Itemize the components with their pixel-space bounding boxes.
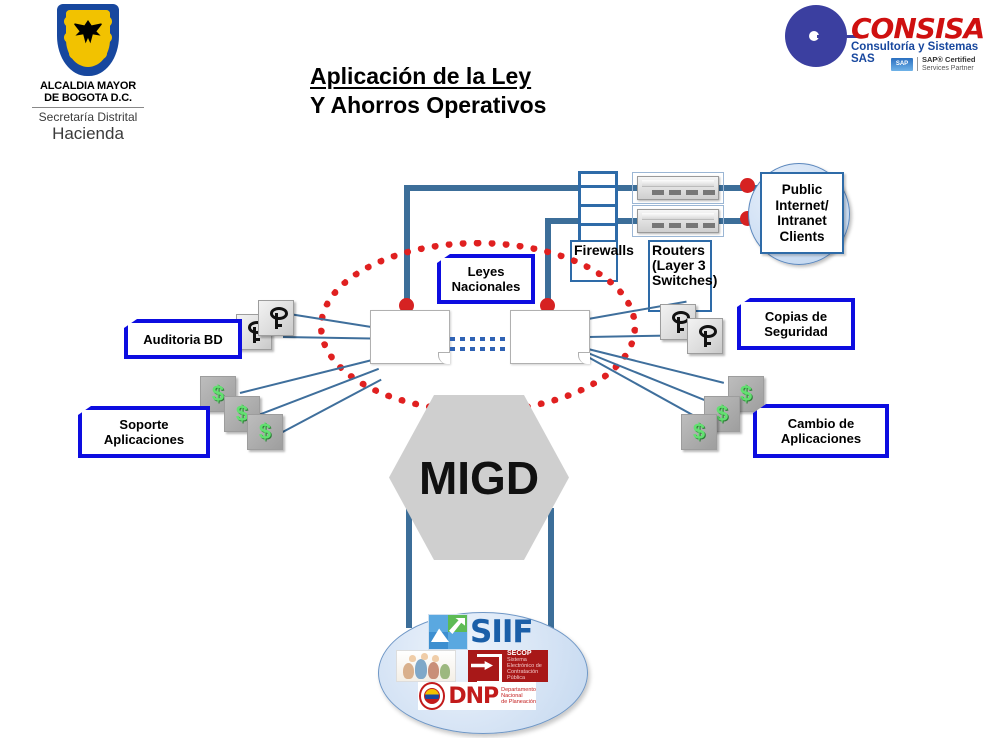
server-link-lower (450, 347, 508, 351)
callout-soporte-aplicaciones-text: Soporte Aplicaciones (104, 417, 184, 447)
spoke-right-4 (588, 352, 719, 406)
secop-subtitle: Sistema Electrónico de Contratación Públ… (507, 657, 542, 681)
migd-label: MIGD (419, 451, 539, 505)
bogota-shield-icon (57, 4, 119, 76)
link-hex-to-oval-right (548, 508, 554, 628)
page-title: Aplicación de la Ley Y Ahorros Operativo… (310, 62, 730, 120)
callout-copias-de-seguridad-text: Copias de Seguridad (764, 309, 828, 339)
title-line-1: Aplicación de la Ley (310, 62, 730, 90)
secop-wordmark: SECOP (507, 650, 532, 657)
title-line-2: Y Ahorros Operativos (310, 90, 730, 120)
siif-wordmark: SIIF (470, 614, 533, 650)
server-link-upper (450, 337, 508, 341)
cost-cube-left-3: $ (247, 414, 283, 450)
slide-canvas: ALCALDIA MAYOR DE BOGOTA D.C. Secretaría… (0, 0, 987, 738)
sap-certified-badge: SAP SAP® Certified Services Partner (891, 56, 975, 72)
link-hex-to-oval-left (406, 508, 412, 628)
callout-leyes-nacionales[interactable]: Leyes Nacionales (437, 254, 535, 304)
internet-clients-label: Public Internet/ Intranet Clients (760, 172, 844, 254)
siif-logo: SIIF (428, 614, 533, 650)
bogota-divider (32, 107, 144, 108)
callout-copias-de-seguridad[interactable]: Copias de Seguridad (737, 298, 855, 350)
sap-certified-line1: SAP® Certified (922, 55, 975, 64)
callout-leyes-nacionales-text: Leyes Nacionales (452, 264, 521, 294)
consisa-logo: CONSISA Consultoría y Sistemas SAS SAP S… (763, 2, 981, 76)
alcaldia-bogota-logo: ALCALDIA MAYOR DE BOGOTA D.C. Secretaría… (8, 4, 168, 124)
routers-label-text: Routers (Layer 3 Switches) (652, 242, 717, 288)
dnp-wordmark: DNP (448, 684, 498, 709)
migd-hexagon: MIGD (389, 395, 569, 560)
callout-soporte-aplicaciones[interactable]: Soporte Aplicaciones (78, 406, 210, 458)
bogota-subtitle: Secretaría Distrital (8, 110, 168, 124)
callout-cambio-de-aplicaciones[interactable]: Cambio de Aplicaciones (753, 404, 889, 458)
siif-mark-icon (428, 614, 468, 650)
secop-logo: SECOP Sistema Electrónico de Contratació… (468, 650, 548, 682)
callout-auditoria-bd-text: Auditoria BD (143, 332, 222, 347)
router-device-top-icon (637, 176, 719, 200)
database-audit-cube-2 (258, 300, 294, 336)
firewalls-label-text: Firewalls (574, 242, 634, 258)
community-photo-thumbnail (396, 650, 456, 682)
callout-auditoria-bd[interactable]: Auditoria BD (124, 319, 242, 359)
server-node-left (370, 310, 450, 364)
dnp-subtitle: Departamento Nacional de Planeación (501, 687, 536, 705)
dnp-logo: DNP Departamento Nacional de Planeación (418, 682, 536, 710)
dnp-seal-icon (419, 682, 445, 710)
router-device-bottom-icon (637, 209, 719, 233)
sap-logo-icon: SAP (891, 58, 913, 71)
bogota-title: ALCALDIA MAYOR DE BOGOTA D.C. (8, 81, 168, 104)
backup-cube-2 (687, 318, 723, 354)
callout-cambio-de-aplicaciones-text: Cambio de Aplicaciones (781, 416, 861, 446)
server-node-right (510, 310, 590, 364)
secop-mark-icon (471, 653, 504, 679)
internet-clients-text: Public Internet/ Intranet Clients (775, 182, 828, 244)
sap-certified-line2: Services Partner (922, 65, 974, 72)
bogota-department: Hacienda (8, 124, 168, 143)
cost-cube-right-3: $ (681, 414, 717, 450)
